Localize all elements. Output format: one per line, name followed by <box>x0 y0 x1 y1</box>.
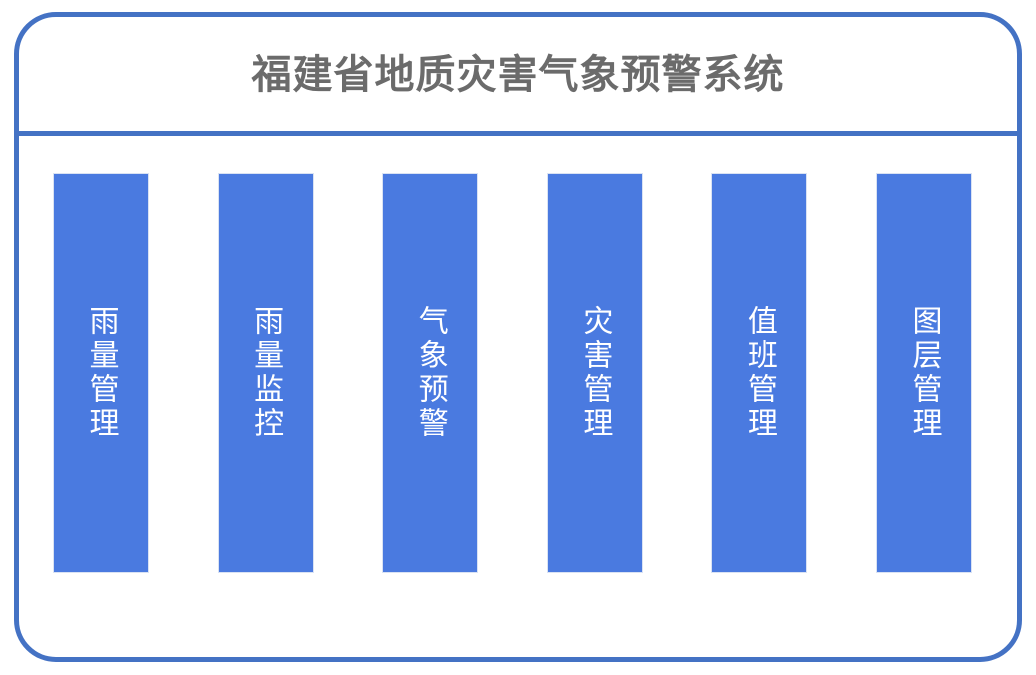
module-label: 雨量监控 <box>248 305 283 441</box>
title-divider <box>14 131 1022 136</box>
module-label: 灾害管理 <box>577 305 612 441</box>
module-label: 气象预警 <box>413 305 448 441</box>
module-column-weather-warning[interactable]: 气象预警 <box>382 173 478 573</box>
module-columns: 雨量管理 雨量监控 气象预警 灾害管理 值班管理 图层管理 <box>53 173 972 573</box>
module-column-rainfall-management[interactable]: 雨量管理 <box>53 173 149 573</box>
app-canvas: 福建省地质灾害气象预警系统 雨量管理 雨量监控 气象预警 灾害管理 值班管理 图… <box>0 0 1036 675</box>
module-label: 雨量管理 <box>83 305 118 441</box>
title-band: 福建省地质灾害气象预警系统 <box>14 12 1022 138</box>
page-title: 福建省地质灾害气象预警系统 <box>252 55 785 95</box>
module-label: 值班管理 <box>742 305 777 441</box>
module-column-duty-management[interactable]: 值班管理 <box>711 173 807 573</box>
module-label: 图层管理 <box>906 305 941 441</box>
module-column-rainfall-monitoring[interactable]: 雨量监控 <box>218 173 314 573</box>
module-column-layer-management[interactable]: 图层管理 <box>876 173 972 573</box>
module-column-disaster-management[interactable]: 灾害管理 <box>547 173 643 573</box>
